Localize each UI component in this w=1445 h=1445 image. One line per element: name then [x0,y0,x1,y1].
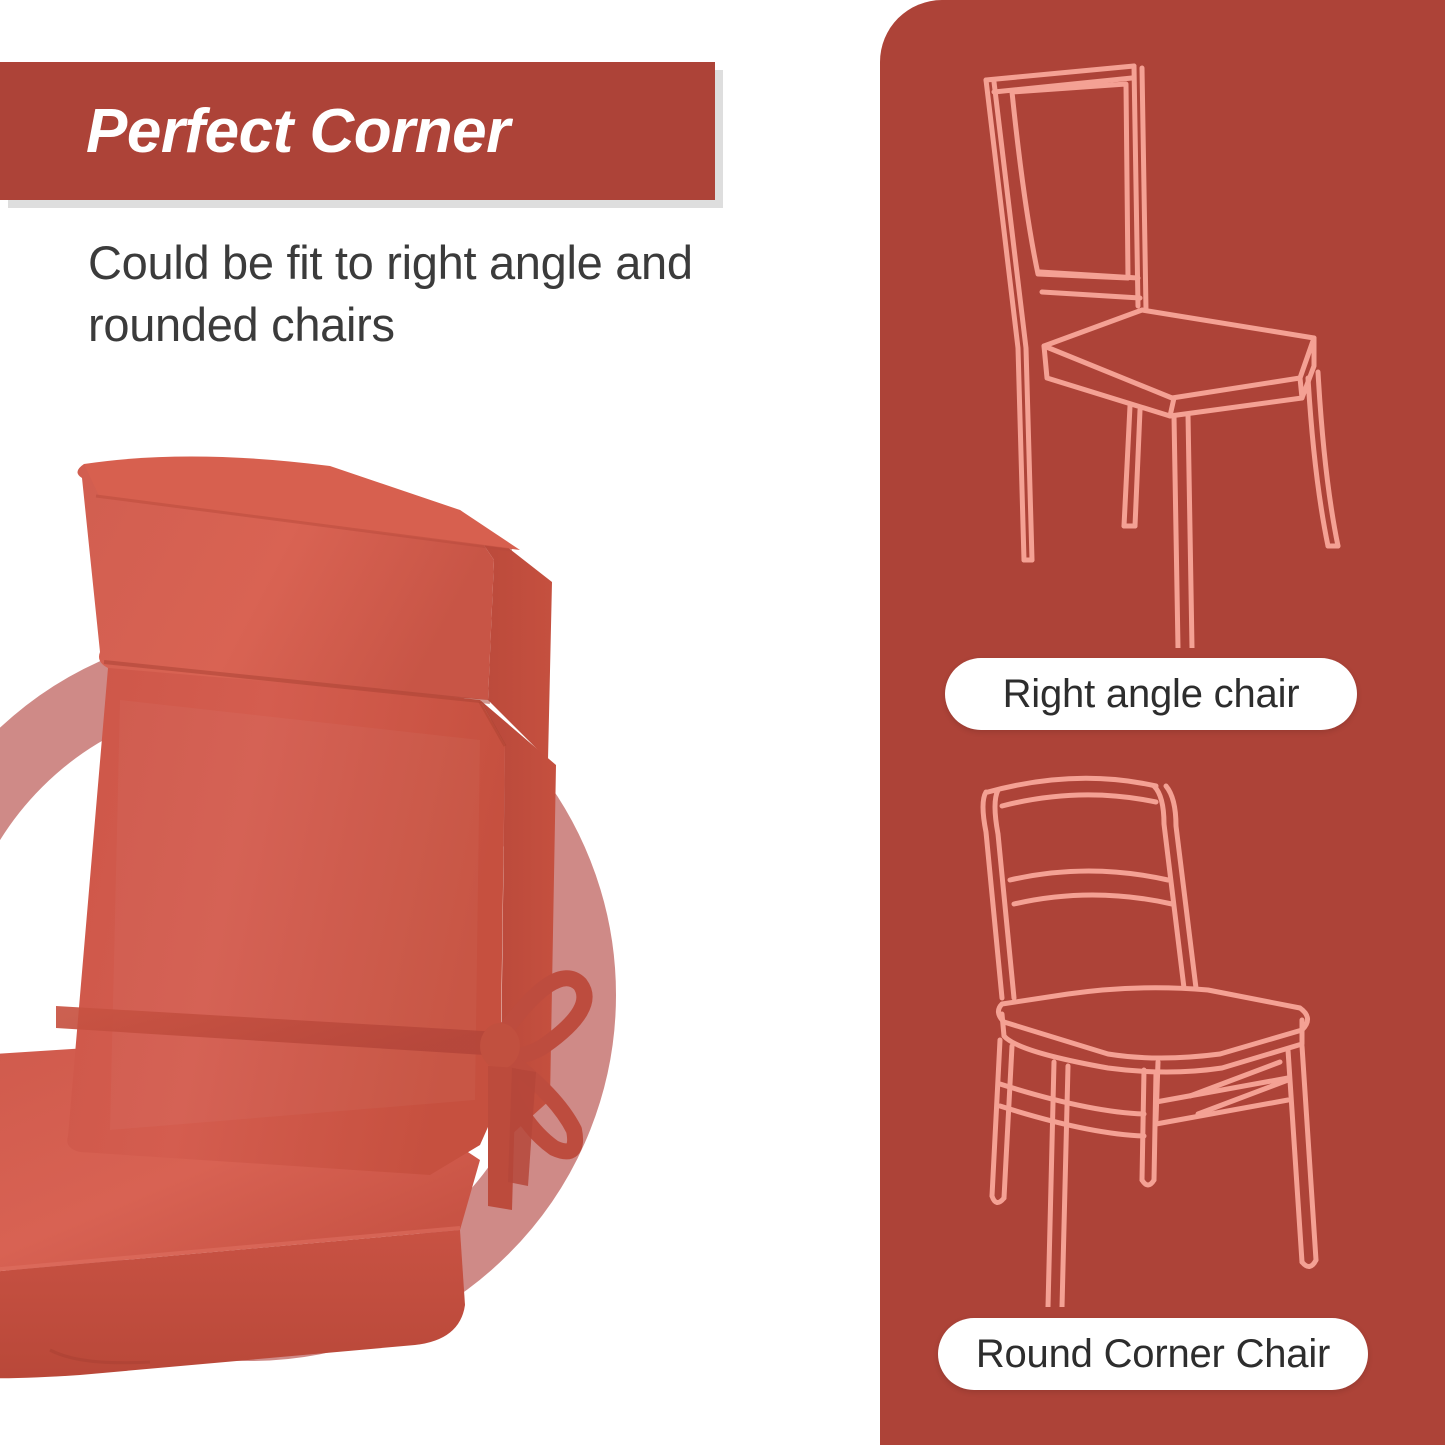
round-corner-chair-line-drawing-icon [958,762,1358,1307]
title-banner: Perfect Corner [0,62,715,200]
subtitle-text: Could be fit to right angle and rounded … [88,232,848,356]
page-title: Perfect Corner [0,96,510,167]
chair-type-panel: Right angle chair [880,0,1445,1445]
product-image-chair-cushion [0,400,680,1410]
badge-round-corner-chair: Round Corner Chair [938,1318,1368,1390]
badge-round-corner-chair-label: Round Corner Chair [976,1332,1330,1377]
product-feature-image: Perfect Corner Could be fit to right ang… [0,0,1445,1445]
badge-right-angle-chair: Right angle chair [945,658,1357,730]
badge-right-angle-chair-label: Right angle chair [1003,672,1300,717]
right-angle-chair-line-drawing-icon [942,48,1362,648]
